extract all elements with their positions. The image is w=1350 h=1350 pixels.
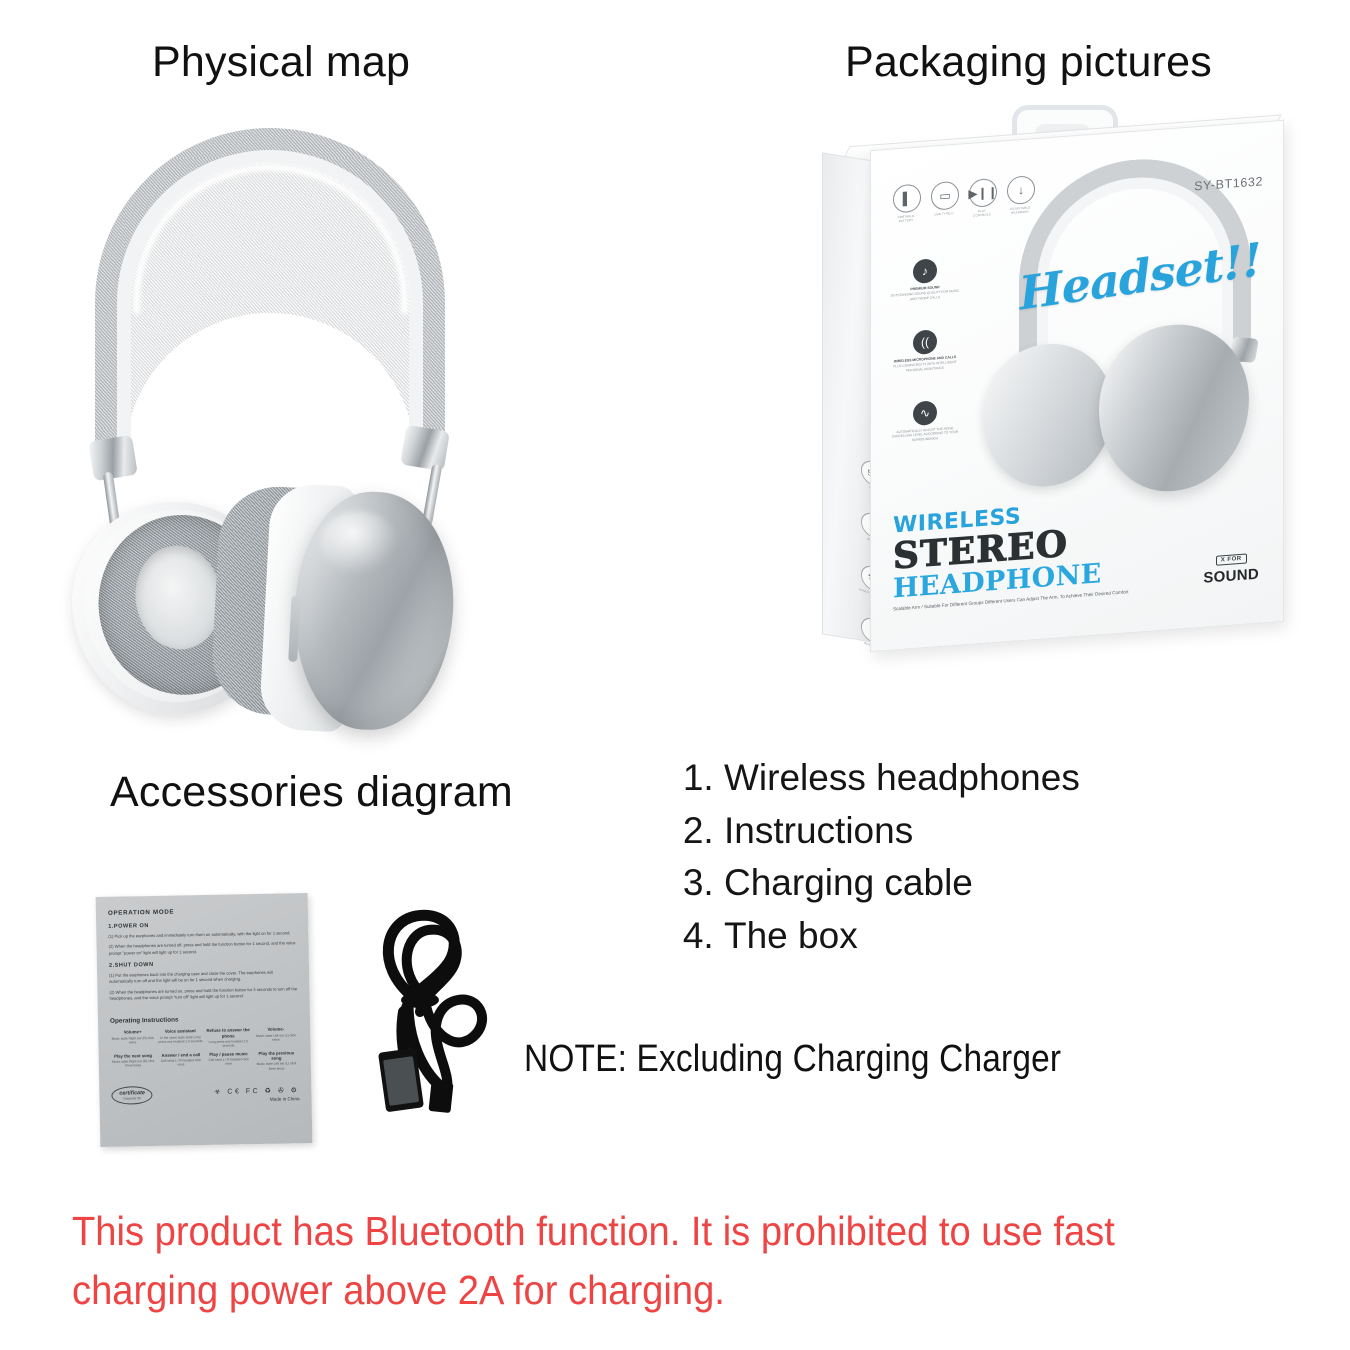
micro-usb-connector bbox=[428, 1081, 453, 1113]
manual-section1-p2: (2) When the headphones are turned off, … bbox=[109, 941, 297, 957]
cable-tie bbox=[401, 992, 439, 1008]
manual-operations-grid: Volume+ Music state Right ear (R) click … bbox=[110, 1027, 299, 1074]
box-front-panel: ▌ PORTABLE BATTERY ▭ USB TYPE-C ▶❙❙ PLAY… bbox=[870, 120, 1284, 652]
accessories-diagram-title: Accessories diagram bbox=[110, 768, 513, 817]
usb-cable-drawing bbox=[360, 900, 520, 1120]
box-art-earcup-left bbox=[983, 339, 1113, 491]
made-in-china-label: Made in China bbox=[214, 1096, 299, 1103]
box-feature-icon-strip: ▌ PORTABLE BATTERY ▭ USB TYPE-C ▶❙❙ PLAY… bbox=[893, 175, 1033, 224]
packaging-box-photo: 5.1 BT5.0 ▯ BOX KIT ☎ HANDS FREE CALLS ⌇… bbox=[800, 105, 1300, 665]
manual-section1-p1: (1) Pick up the earphones and immediatel… bbox=[108, 930, 296, 940]
wireless-mic-icon: (( bbox=[913, 329, 937, 355]
certification-marks-icon: ☣ C€ FC ♻ ✇ ⚙ bbox=[214, 1086, 299, 1096]
manual-heading: OPERATION MODE bbox=[108, 906, 296, 917]
list-item: The box bbox=[724, 910, 1202, 963]
top-icon-2-caption: PLAY CONTROLS bbox=[969, 209, 995, 218]
manual-operating-title: Operating Instructions bbox=[110, 1015, 298, 1026]
play-pause-icon: ▶❙❙ bbox=[969, 178, 997, 208]
operation-sub: Music state Left ear (L) click twice bbox=[254, 1033, 299, 1042]
list-item: Instructions bbox=[724, 805, 1202, 858]
operation-cell: Play / pause music Call send L / R heads… bbox=[206, 1051, 251, 1071]
operation-cell: Volume- Music state Left ear (L) click t… bbox=[253, 1027, 298, 1047]
battery-icon: ▌ bbox=[893, 183, 921, 213]
box-brand-block: WIRELESS STEREO HEADPHONE Scalable Arm /… bbox=[893, 499, 1129, 614]
manual-section2-title: 2.SHUT DOWN bbox=[109, 959, 297, 969]
manual-footer: certificate inspector 06 ☣ C€ FC ♻ ✇ ⚙ M… bbox=[111, 1083, 299, 1105]
top-icon-0-caption: PORTABLE BATTERY bbox=[893, 215, 919, 224]
operation-sub: Music state Right ear (R) click three ti… bbox=[111, 1059, 156, 1068]
operation-sub: In the same state state Long press any h… bbox=[158, 1035, 203, 1044]
certificate-stamp-sub: inspector 06 bbox=[119, 1096, 145, 1100]
operation-cell: Refuse to answer the phone Long press an… bbox=[206, 1028, 251, 1048]
physical-map-title: Physical map bbox=[152, 38, 410, 87]
contents-ordered-list: Wireless headphones Instructions Chargin… bbox=[682, 752, 1202, 962]
top-icon-3-caption: ADJUSTABLE HEADBAND bbox=[1007, 206, 1033, 215]
operation-title: Volume- bbox=[253, 1027, 298, 1033]
box-feature-1: (( WIRELESS MICROPHONE AND CALLS PLUS CO… bbox=[889, 328, 961, 374]
certification-marks-block: ☣ C€ FC ♻ ✇ ⚙ Made in China bbox=[214, 1086, 299, 1103]
box-sound-badge: X FOR SOUND bbox=[1203, 546, 1259, 587]
operation-sub: Music state Right ear (R) click twice bbox=[110, 1036, 155, 1045]
operation-title: Play the previous song bbox=[254, 1050, 299, 1061]
operation-sub: Call send L / R headset click once bbox=[158, 1058, 203, 1067]
sound-badge-mark: X FOR bbox=[1216, 554, 1247, 566]
top-icon-2: ▶❙❙ PLAY CONTROLS bbox=[969, 178, 995, 218]
operation-title: Answer / end a call bbox=[158, 1052, 203, 1058]
operation-sub: Music state Left ear (L) click three tim… bbox=[254, 1062, 299, 1071]
manual-section1-title: 1.POWER ON bbox=[108, 920, 296, 930]
hinge-right bbox=[400, 425, 450, 471]
operation-cell: Volume+ Music state Right ear (R) click … bbox=[110, 1029, 155, 1049]
manual-section2-p2: (2) When the headphones are turned on, p… bbox=[109, 986, 297, 1002]
list-item: Wireless headphones bbox=[724, 752, 1202, 805]
operation-sub: Call send L / R headset click once bbox=[206, 1057, 251, 1066]
operation-title: Refuse to answer the phone bbox=[206, 1028, 251, 1039]
top-icon-1-caption: USB TYPE-C bbox=[931, 212, 957, 218]
operation-cell: Voice assistant In the same state state … bbox=[158, 1028, 203, 1048]
operation-title: Volume+ bbox=[110, 1029, 155, 1035]
box-feature-2-desc: AUTOMATICALLY ADJUST THE NOISE CANCELLIN… bbox=[889, 426, 961, 444]
top-icon-3: ↓ ADJUSTABLE HEADBAND bbox=[1007, 175, 1033, 215]
top-icon-0: ▌ PORTABLE BATTERY bbox=[893, 184, 919, 224]
operation-title: Voice assistant bbox=[158, 1028, 203, 1034]
operation-cell: Play the next song Music state Right ear… bbox=[111, 1053, 156, 1073]
operation-title: Play / pause music bbox=[206, 1051, 251, 1057]
box-feature-0: ♪ PREMIUM SOUND OUTSTANDING SOUND QUALIT… bbox=[889, 257, 961, 303]
premium-sound-icon: ♪ bbox=[913, 258, 937, 284]
operation-title: Play the next song bbox=[111, 1053, 156, 1059]
operation-cell: Answer / end a call Call send L / R head… bbox=[158, 1052, 203, 1072]
headphones-product-photo bbox=[55, 120, 505, 660]
packaging-pictures-title: Packaging pictures bbox=[845, 38, 1212, 87]
box-feature-list: ♪ PREMIUM SOUND OUTSTANDING SOUND QUALIT… bbox=[889, 257, 961, 474]
sound-badge-label: SOUND bbox=[1203, 566, 1259, 587]
instruction-manual-sheet: OPERATION MODE 1.POWER ON (1) Pick up th… bbox=[96, 893, 313, 1147]
operation-cell: Play the previous song Music state Left … bbox=[254, 1050, 299, 1070]
box-feature-2: ∿ AUTOMATICALLY ADJUST THE NOISE CANCELL… bbox=[889, 399, 961, 444]
package-contents-list: Wireless headphones Instructions Chargin… bbox=[682, 752, 1202, 962]
usb-port-icon: ▭ bbox=[931, 181, 959, 211]
excluding-charger-note: NOTE: Excluding Charging Charger bbox=[524, 1038, 1061, 1081]
operation-sub: Long press any headset 1.5 seconds bbox=[206, 1039, 251, 1048]
usb-charging-cable bbox=[360, 900, 520, 1120]
list-item: Charging cable bbox=[724, 857, 1202, 910]
noise-cancel-icon: ∿ bbox=[913, 400, 937, 426]
certificate-stamp-title: certificate bbox=[119, 1090, 145, 1096]
earcup-right bbox=[215, 480, 460, 738]
certificate-stamp: certificate inspector 06 bbox=[111, 1086, 153, 1105]
bluetooth-charging-warning: This product has Bluetooth function. It … bbox=[72, 1202, 1235, 1320]
top-icon-1: ▭ USB TYPE-C bbox=[931, 181, 957, 221]
manual-section2-p1: (1) Put the earphones back into the char… bbox=[109, 969, 297, 985]
adjustable-headband-icon: ↓ bbox=[1007, 175, 1035, 205]
